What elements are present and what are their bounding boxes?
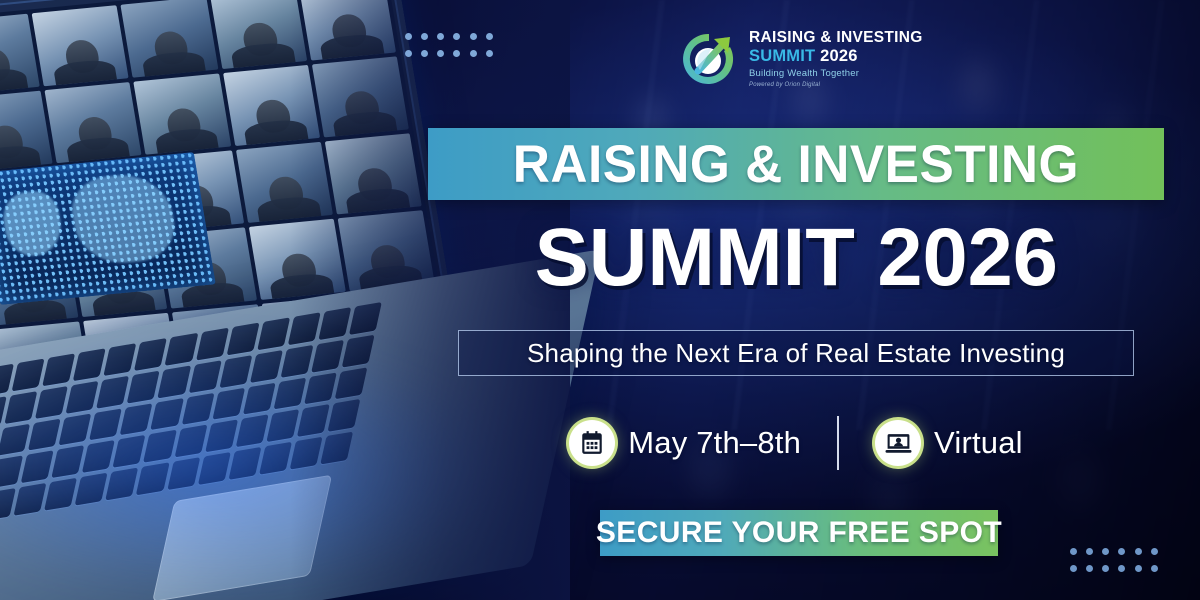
brand-logo[interactable]: RAISING & INVESTING SUMMIT 2026 Building… xyxy=(678,28,923,90)
dot-grid-top-left xyxy=(405,33,493,58)
logo-year: 2026 xyxy=(820,47,858,65)
brand-logo-text: RAISING & INVESTING SUMMIT 2026 Building… xyxy=(749,30,923,89)
dot-grid-bottom-right xyxy=(1070,548,1158,573)
subtitle-box: Shaping the Next Era of Real Estate Inve… xyxy=(458,330,1134,376)
summit-title-text: SUMMIT 2026 xyxy=(534,211,1057,305)
event-format-item: Virtual xyxy=(875,420,1023,466)
logo-line-2: SUMMIT 2026 xyxy=(749,48,923,65)
subtitle-text: Shaping the Next Era of Real Estate Inve… xyxy=(527,338,1065,369)
laptop-person-icon xyxy=(875,420,921,466)
logo-powered-by: Powered by Orion Digital xyxy=(749,82,923,88)
meta-divider xyxy=(837,416,839,470)
calendar-icon xyxy=(569,420,615,466)
event-banner: RAISING & INVESTING SUMMIT 2026 Building… xyxy=(0,0,1200,600)
logo-summit-word: SUMMIT xyxy=(749,47,815,65)
event-date-item: May 7th–8th xyxy=(569,420,801,466)
headline-band-text: RAISING & INVESTING xyxy=(513,134,1079,195)
headline-band: RAISING & INVESTING xyxy=(428,128,1164,200)
secure-spot-button-label: SECURE YOUR FREE SPOT xyxy=(596,516,1002,550)
event-meta-row: May 7th–8th Virtual xyxy=(428,412,1164,474)
secure-spot-button[interactable]: SECURE YOUR FREE SPOT xyxy=(600,510,998,556)
logo-tagline: Building Wealth Together xyxy=(749,69,923,79)
logo-line-1: RAISING & INVESTING xyxy=(749,30,923,46)
event-format-label: Virtual xyxy=(934,425,1023,461)
event-date-label: May 7th–8th xyxy=(628,425,801,461)
circular-arrow-growth-logo-icon xyxy=(678,28,740,90)
page-title: SUMMIT 2026 xyxy=(428,206,1164,310)
